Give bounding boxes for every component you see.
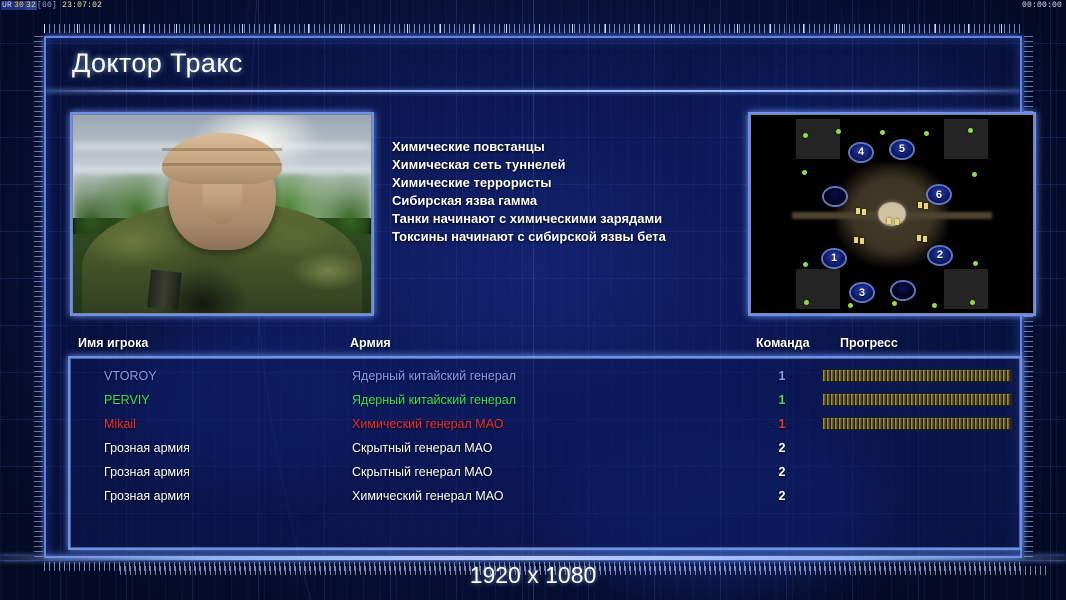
general-description: Химические повстанцы Химическая сеть тун… [392,112,732,316]
oil-derrick-marker [917,235,921,241]
description-line: Химические повстанцы [392,138,732,156]
description-line: Химическая сеть туннелей [392,156,732,174]
player-team: 2 [767,484,797,508]
player-team: 1 [767,388,797,412]
ruler-left [34,36,43,558]
table-header-row: Имя игрокаАрмияКомандаПрогресс [44,336,1022,356]
player-army: Химический генерал МАО [352,484,503,508]
portrait-headwrap-fold [162,163,281,166]
supply-dock-marker [968,128,973,133]
player-army: Ядерный китайский генерал [352,388,516,412]
footer-divider [0,556,1066,560]
oil-derrick-marker [924,203,928,209]
player-name: PERVIY [104,388,150,412]
page-title: Доктор Тракс [72,48,243,79]
player-army: Скрытный генерал МАО [352,460,492,484]
supply-dock-marker [970,300,975,305]
title-bar: Доктор Тракс [46,38,1020,90]
fps-counter: UR3032[60] 23:07:02 [1,0,102,11]
table-row[interactable]: Грозная армияСкрытный генерал МАО2 [70,460,1020,484]
start-position-marker[interactable]: 3 [851,284,873,301]
top-status-bar: UR3032[60] 23:07:02 00:00:00 [0,0,1066,11]
column-header: Имя игрока [78,336,148,350]
player-name: Грозная армия [104,436,190,460]
oil-derrick-marker [860,238,864,244]
portrait-headwrap-fold [162,148,281,151]
table-row[interactable]: PERVIYЯдерный китайский генерал1 [70,388,1020,412]
player-army: Скрытный генерал МАО [352,436,492,460]
start-position-marker[interactable]: 2 [929,247,951,264]
player-list-panel: VTOROYЯдерный китайский генерал1PERVIYЯд… [68,356,1022,550]
portrait-image [73,115,371,313]
table-row[interactable]: Грозная армияСкрытный генерал МАО2 [70,436,1020,460]
supply-dock-marker [892,301,897,306]
player-name: Грозная армия [104,460,190,484]
map-preview-image: 456123 [751,115,1033,313]
player-name: Mikail [104,412,136,436]
table-row[interactable]: VTOROYЯдерный китайский генерал1 [70,364,1020,388]
description-line: Химические террористы [392,174,732,192]
player-team: 2 [767,460,797,484]
map-quadrant [796,269,840,309]
fps-value-avg: 32 [25,1,37,10]
column-header: Армия [350,336,391,350]
player-name: Грозная армия [104,484,190,508]
description-line: Танки начинают с химическими зарядами [392,210,732,228]
resolution-label: 1920 x 1080 [0,562,1066,589]
map-quadrant [944,269,988,309]
supply-dock-marker [924,131,929,136]
player-army: Ядерный китайский генерал [352,364,516,388]
supply-dock-marker [848,303,853,308]
oil-derrick-marker [918,202,922,208]
ruler-top-major [44,24,1022,33]
column-header: Прогресс [840,336,898,350]
description-line: Сибирская язва гамма [392,192,732,210]
map-quadrant [796,119,840,159]
supply-dock-marker [803,262,808,267]
map-quadrant [944,119,988,159]
oil-derrick-marker [923,236,927,242]
supply-dock-marker [972,172,977,177]
oil-derrick-marker [856,208,860,214]
player-progress-bar [822,369,1012,382]
supply-dock-marker [932,303,937,308]
fps-label: UR [1,1,13,10]
player-team: 1 [767,364,797,388]
start-position-marker[interactable]: 4 [850,144,872,161]
game-clock: 00:00:00 [1022,0,1062,11]
player-progress-bar [822,393,1012,406]
supply-dock-marker [973,261,978,266]
map-center-feature [878,202,906,226]
table-row[interactable]: MikailХимический генерал МАО1 [70,412,1020,436]
fps-value-current: 30 [13,1,25,10]
supply-dock-marker [880,130,885,135]
fps-cap: [60] [37,1,57,10]
oil-derrick-marker [895,219,899,225]
portrait-strap [147,269,182,310]
start-position-marker[interactable] [892,282,914,299]
supply-dock-marker [803,133,808,138]
player-team: 1 [767,412,797,436]
description-lines: Химические повстанцы Химическая сеть тун… [392,138,732,246]
player-team: 2 [767,436,797,460]
oil-derrick-marker [854,237,858,243]
media-row: Химические повстанцы Химическая сеть тун… [44,106,1022,322]
title-divider [46,90,1020,92]
map-preview[interactable]: 456123 [748,112,1036,316]
oil-derrick-marker [887,218,891,224]
start-position-marker[interactable]: 5 [891,141,913,158]
general-portrait [70,112,374,316]
start-position-marker[interactable]: 6 [928,186,950,203]
session-timer: 23:07:02 [62,1,102,10]
map-terrain: 456123 [792,115,992,313]
lobby-panel: Доктор Тракс [44,36,1022,558]
player-name: VTOROY [104,364,157,388]
description-line: Токсины начинают с сибирской язвы бета [392,228,732,246]
supply-dock-marker [802,170,807,175]
player-progress-bar [822,417,1012,430]
start-position-marker[interactable]: 1 [823,250,845,267]
column-header: Команда [756,336,810,350]
table-row[interactable]: Грозная армияХимический генерал МАО2 [70,484,1020,508]
oil-derrick-marker [862,209,866,215]
player-army: Химический генерал МАО [352,412,503,436]
supply-dock-marker [836,129,841,134]
